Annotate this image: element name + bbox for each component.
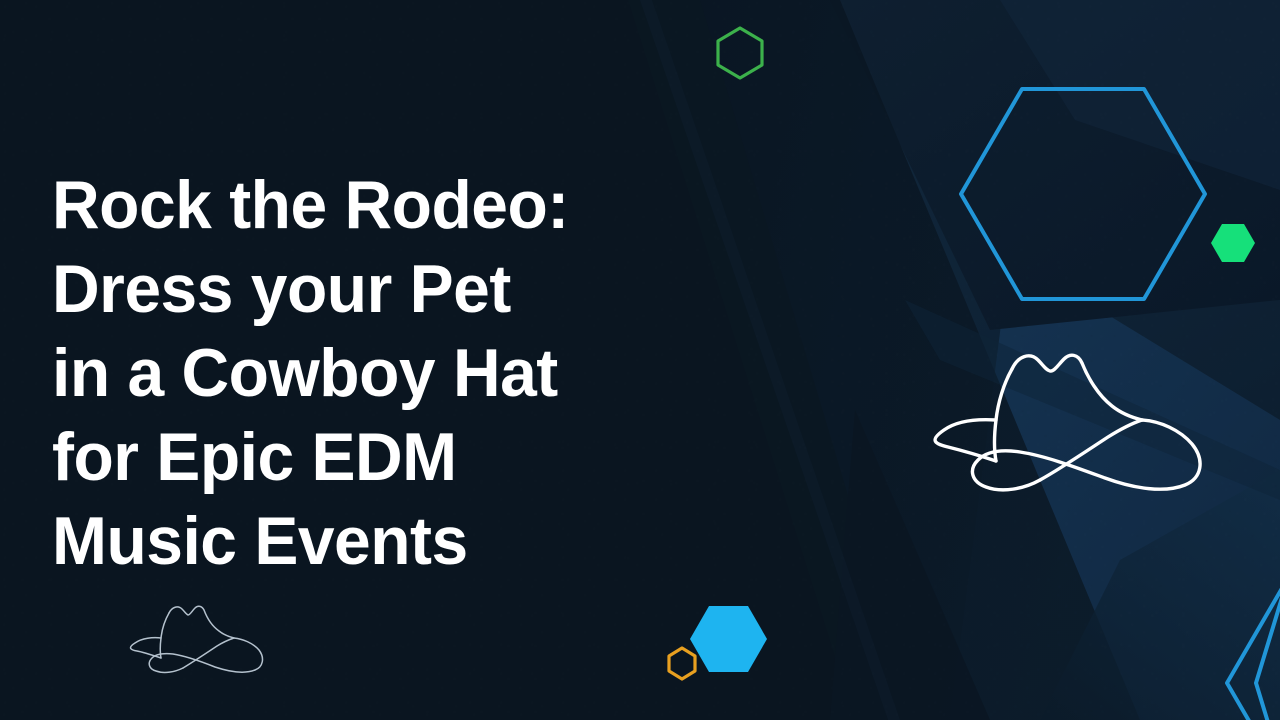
hero-banner: Rock the Rodeo: Dress your Pet in a Cowb…	[0, 0, 1280, 720]
page-title: Rock the Rodeo: Dress your Pet in a Cowb…	[52, 163, 712, 583]
